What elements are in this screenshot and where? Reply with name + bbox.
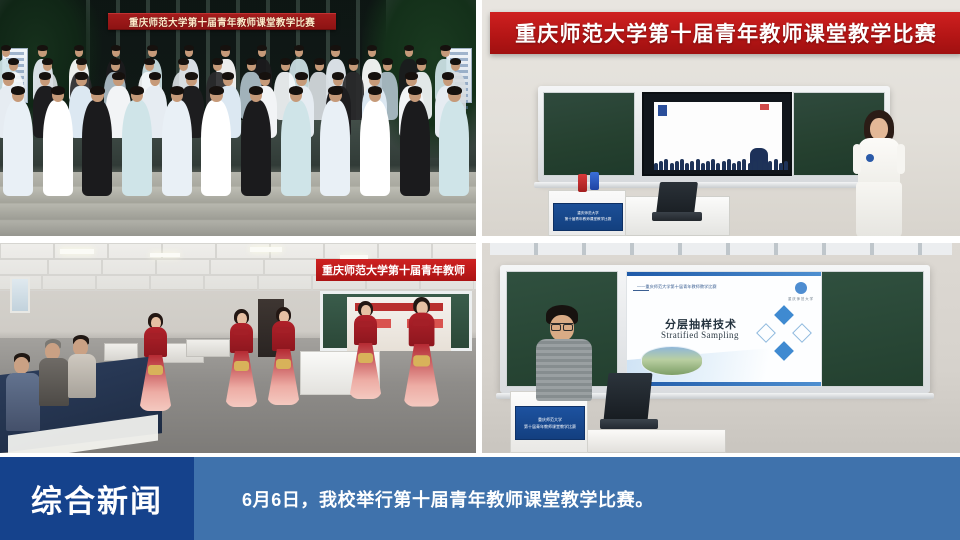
podium-sign-line2: 第十届青年教师课堂教学比赛 [524,425,576,429]
audience-figure [675,161,679,170]
person-hair [209,86,224,95]
person-hair [220,45,230,51]
laptop [600,373,656,435]
dancer-arm [147,333,163,339]
audience-figure [701,163,705,170]
audience-figure [758,159,762,170]
glasses-icon [551,323,573,328]
dance-room-board [320,291,472,351]
ceiling-tile [378,243,432,259]
upper-windows [490,243,952,255]
teacher-blouse [858,138,900,186]
person-hair [11,86,26,95]
person-hair [222,72,235,80]
photo-grid: 重庆师范大学第十届青年教师课堂教学比赛 重庆师范大学第十届青年教师课堂教学比赛 [0,0,960,453]
laptop [652,182,700,224]
podium: 重庆师范大学 第十届青年教师课堂教学比赛 [548,190,626,236]
dancer-bodice [272,321,295,351]
person-hair [144,58,155,65]
person-hair [382,58,393,65]
person-hair [259,72,272,80]
laptop-base [600,419,658,429]
person-hair [170,86,185,95]
headline-container: 6月6日，我校举行第十届青年教师课堂教学比赛。 [196,457,960,540]
person-hair [110,58,121,65]
presentation-slide: ——重庆师范大学第十届青年教师教学比赛 重 庆 师 范 大 学 分层抽样技术 S… [626,271,822,387]
red-can [578,174,587,192]
audience-figure [706,161,710,170]
university-logo-icon [795,282,807,294]
flag-icon [760,104,769,110]
person-hair [178,58,189,65]
person-hair [111,45,121,51]
person-hair [442,72,455,80]
ceiling-tile [258,275,312,291]
slide-subtitle: ——重庆师范大学第十届青年教师教学比赛 [637,284,717,290]
board-tray [534,182,894,188]
teacher-face [870,118,888,140]
dance-room-banner-text: 重庆师范大学第十届青年教师 [322,262,465,278]
ceiling-tile [156,259,210,275]
judge-head [14,357,29,374]
person-hair [76,58,87,65]
ceiling-tile [48,259,102,275]
audience-figure [727,159,731,170]
person-hair [130,86,145,95]
slide-campus-photo [641,346,703,376]
ceiling-tile [42,275,96,291]
laptop-lid [656,182,698,214]
person-hair [2,72,15,80]
person-hair [332,72,345,80]
side-table-2 [186,339,230,357]
person-hair [51,86,66,95]
laptop-lid [603,373,652,421]
audience-figure [716,163,720,170]
person [162,100,192,196]
audience-figure [690,161,694,170]
person-hair [280,58,291,65]
slide-top-bar [627,272,821,276]
people-crowd [0,0,476,236]
audience-figure [732,163,736,170]
male-teacher-image: ——重庆师范大学第十届青年教师教学比赛 重 庆 师 范 大 学 分层抽样技术 S… [482,243,960,453]
slide-organization: 重 庆 师 范 大 学 [788,296,813,301]
chalkboard-left [543,92,635,176]
person-hair [75,72,88,80]
audience-figure [779,163,783,170]
person-hair [289,86,304,95]
person [201,100,231,196]
ceiling-tile [264,259,318,275]
person [320,100,350,196]
person-hair [147,45,157,51]
dancer-arm [357,321,373,327]
person-hair [330,45,340,51]
teacher-badge [866,154,874,162]
photo-female-teacher-classroom[interactable]: 重庆师范大学第十届青年教师课堂教学比赛 [482,0,960,236]
slide-bottom-bar [627,382,821,386]
ceiling-light [250,247,282,252]
podium-sign: 重庆师范大学 第十届青年教师课堂教学比赛 [515,406,585,440]
audience-figure [774,159,778,170]
teacher-skirt [856,182,902,236]
female-teacher [850,110,908,236]
ceiling-light [150,253,180,257]
person [241,100,271,196]
person [281,100,311,196]
person-hair [1,45,11,51]
person-hair [149,72,162,80]
audience-figure [784,161,788,170]
caption-bar: 综合新闻 6月6日，我校举行第十届青年教师课堂教学比赛。 [0,457,960,540]
person [3,100,33,196]
person-hair [447,86,462,95]
person-hair [450,58,461,65]
headline-text: 6月6日，我校举行第十届青年教师课堂教学比赛。 [196,486,654,512]
laptop-base [652,212,702,221]
person-hair [184,45,194,51]
audience-figure [685,163,689,170]
photo-dance-performance[interactable]: 重庆师范大学第十届青年教师 [0,243,476,453]
dancer-arm [275,327,291,333]
slide-rule [633,290,649,291]
diamond-icon-right [792,323,812,343]
news-collage-page: 重庆师范大学第十届青年教师课堂教学比赛 重庆师范大学第十届青年教师课堂教学比赛 [0,0,960,540]
teacher-arm-left [853,144,861,174]
person-hair [37,45,47,51]
dancer-belt-ornament [276,359,291,369]
audience-figure [711,159,715,170]
photo-male-teacher-slide[interactable]: ——重庆师范大学第十届青年教师教学比赛 重 庆 师 范 大 学 分层抽样技术 S… [482,243,960,453]
slide-title-en: Stratified Sampling [661,330,739,340]
podium-sign-line1: 重庆师范大学 [538,418,562,422]
dancer-belt-ornament [234,361,249,371]
dancer-bodice [144,327,167,357]
window [10,277,30,313]
audience-figure [664,159,668,170]
ceiling-tile [150,275,204,291]
person-hair [112,72,125,80]
person-hair [348,58,359,65]
dancer-arm [412,319,430,326]
dancer-arm [233,329,249,335]
group-photo-image: 重庆师范大学第十届青年教师课堂教学比赛 [0,0,476,236]
person-hair [294,45,304,51]
person [360,100,390,196]
blue-can [590,172,599,190]
dancer-bodice [354,315,377,345]
diamond-icon-top [774,305,794,325]
person [43,100,73,196]
diamond-icon-left [756,323,776,343]
dancer-belt-ornament [358,353,373,363]
whiteboard-assembly [538,86,890,182]
classroom-banner: 重庆师范大学第十届青年教师课堂教学比赛 [490,12,960,54]
person-hair [212,58,223,65]
ceiling-tile [432,243,476,259]
teacher-shirt [536,339,592,401]
dancer-belt-ornament [148,365,163,375]
audience-figure [696,159,700,170]
ceiling-tile [0,259,48,275]
person-hair [416,58,427,65]
judge-body [39,358,69,406]
slide-logo-icon [658,105,667,116]
ceiling-tile [102,259,156,275]
person [439,100,469,196]
person-hair [440,45,450,51]
podium-sign: 重庆师范大学 第十届青年教师课堂教学比赛 [553,203,623,231]
person [400,100,430,196]
person-hair [404,45,414,51]
person-hair [90,86,105,95]
audience-figure [654,163,658,170]
person-hair [74,45,84,51]
ceiling-tile [204,275,258,291]
person-hair [39,72,52,80]
person-hair [367,45,377,51]
dance-room-banner: 重庆师范大学第十届青年教师 [316,259,476,281]
audience-figure [737,161,741,170]
person-hair [249,86,264,95]
teacher-arm-right [897,144,905,174]
classroom-banner-text: 重庆师范大学第十届青年教师课堂教学比赛 [515,18,937,48]
judge-body [6,373,40,431]
person-hair [8,58,19,65]
male-teacher [532,305,596,409]
person-hair [314,58,325,65]
person-hair [405,72,418,80]
podium-sign-line2: 第十届青年教师课堂教学比赛 [565,218,612,222]
dancer-belt-ornament [413,355,430,366]
audience-figure [768,161,772,170]
category-label: 综合新闻 [31,476,163,521]
dancer-bodice [230,323,253,353]
audience-figure [763,163,767,170]
person-hair [408,86,423,95]
ceiling-light [60,249,94,254]
female-teacher-image: 重庆师范大学第十届青年教师课堂教学比赛 [482,0,960,236]
display-screen [642,92,792,176]
person-hair [295,72,308,80]
audience-figure [748,163,752,170]
ceiling-tile [210,259,264,275]
judge-body [68,354,96,398]
audience-figure [659,161,663,170]
person [122,100,152,196]
category-badge[interactable]: 综合新闻 [0,457,194,540]
dancer-bodice [409,313,435,347]
person-hair [328,86,343,95]
ceiling-tile [96,275,150,291]
audience-figure [670,163,674,170]
person-hair [368,86,383,95]
person-hair [257,45,267,51]
person-hair [42,58,53,65]
audience-figure [753,161,757,170]
person-hair [246,58,257,65]
dance-performance-image: 重庆师范大学第十届青年教师 [0,243,476,453]
ceiling-tile [0,243,54,259]
person-hair [368,72,381,80]
audience-figure [722,161,726,170]
chalkboard-right [812,271,924,387]
slide-content [654,102,782,170]
audience-figure [680,159,684,170]
audience-figure [742,159,746,170]
person [82,100,112,196]
podium-sign-line1: 重庆师范大学 [577,212,599,216]
person-hair [185,72,198,80]
photo-group-photo[interactable]: 重庆师范大学第十届青年教师课堂教学比赛 [0,0,476,236]
audience-silhouettes [654,157,782,170]
